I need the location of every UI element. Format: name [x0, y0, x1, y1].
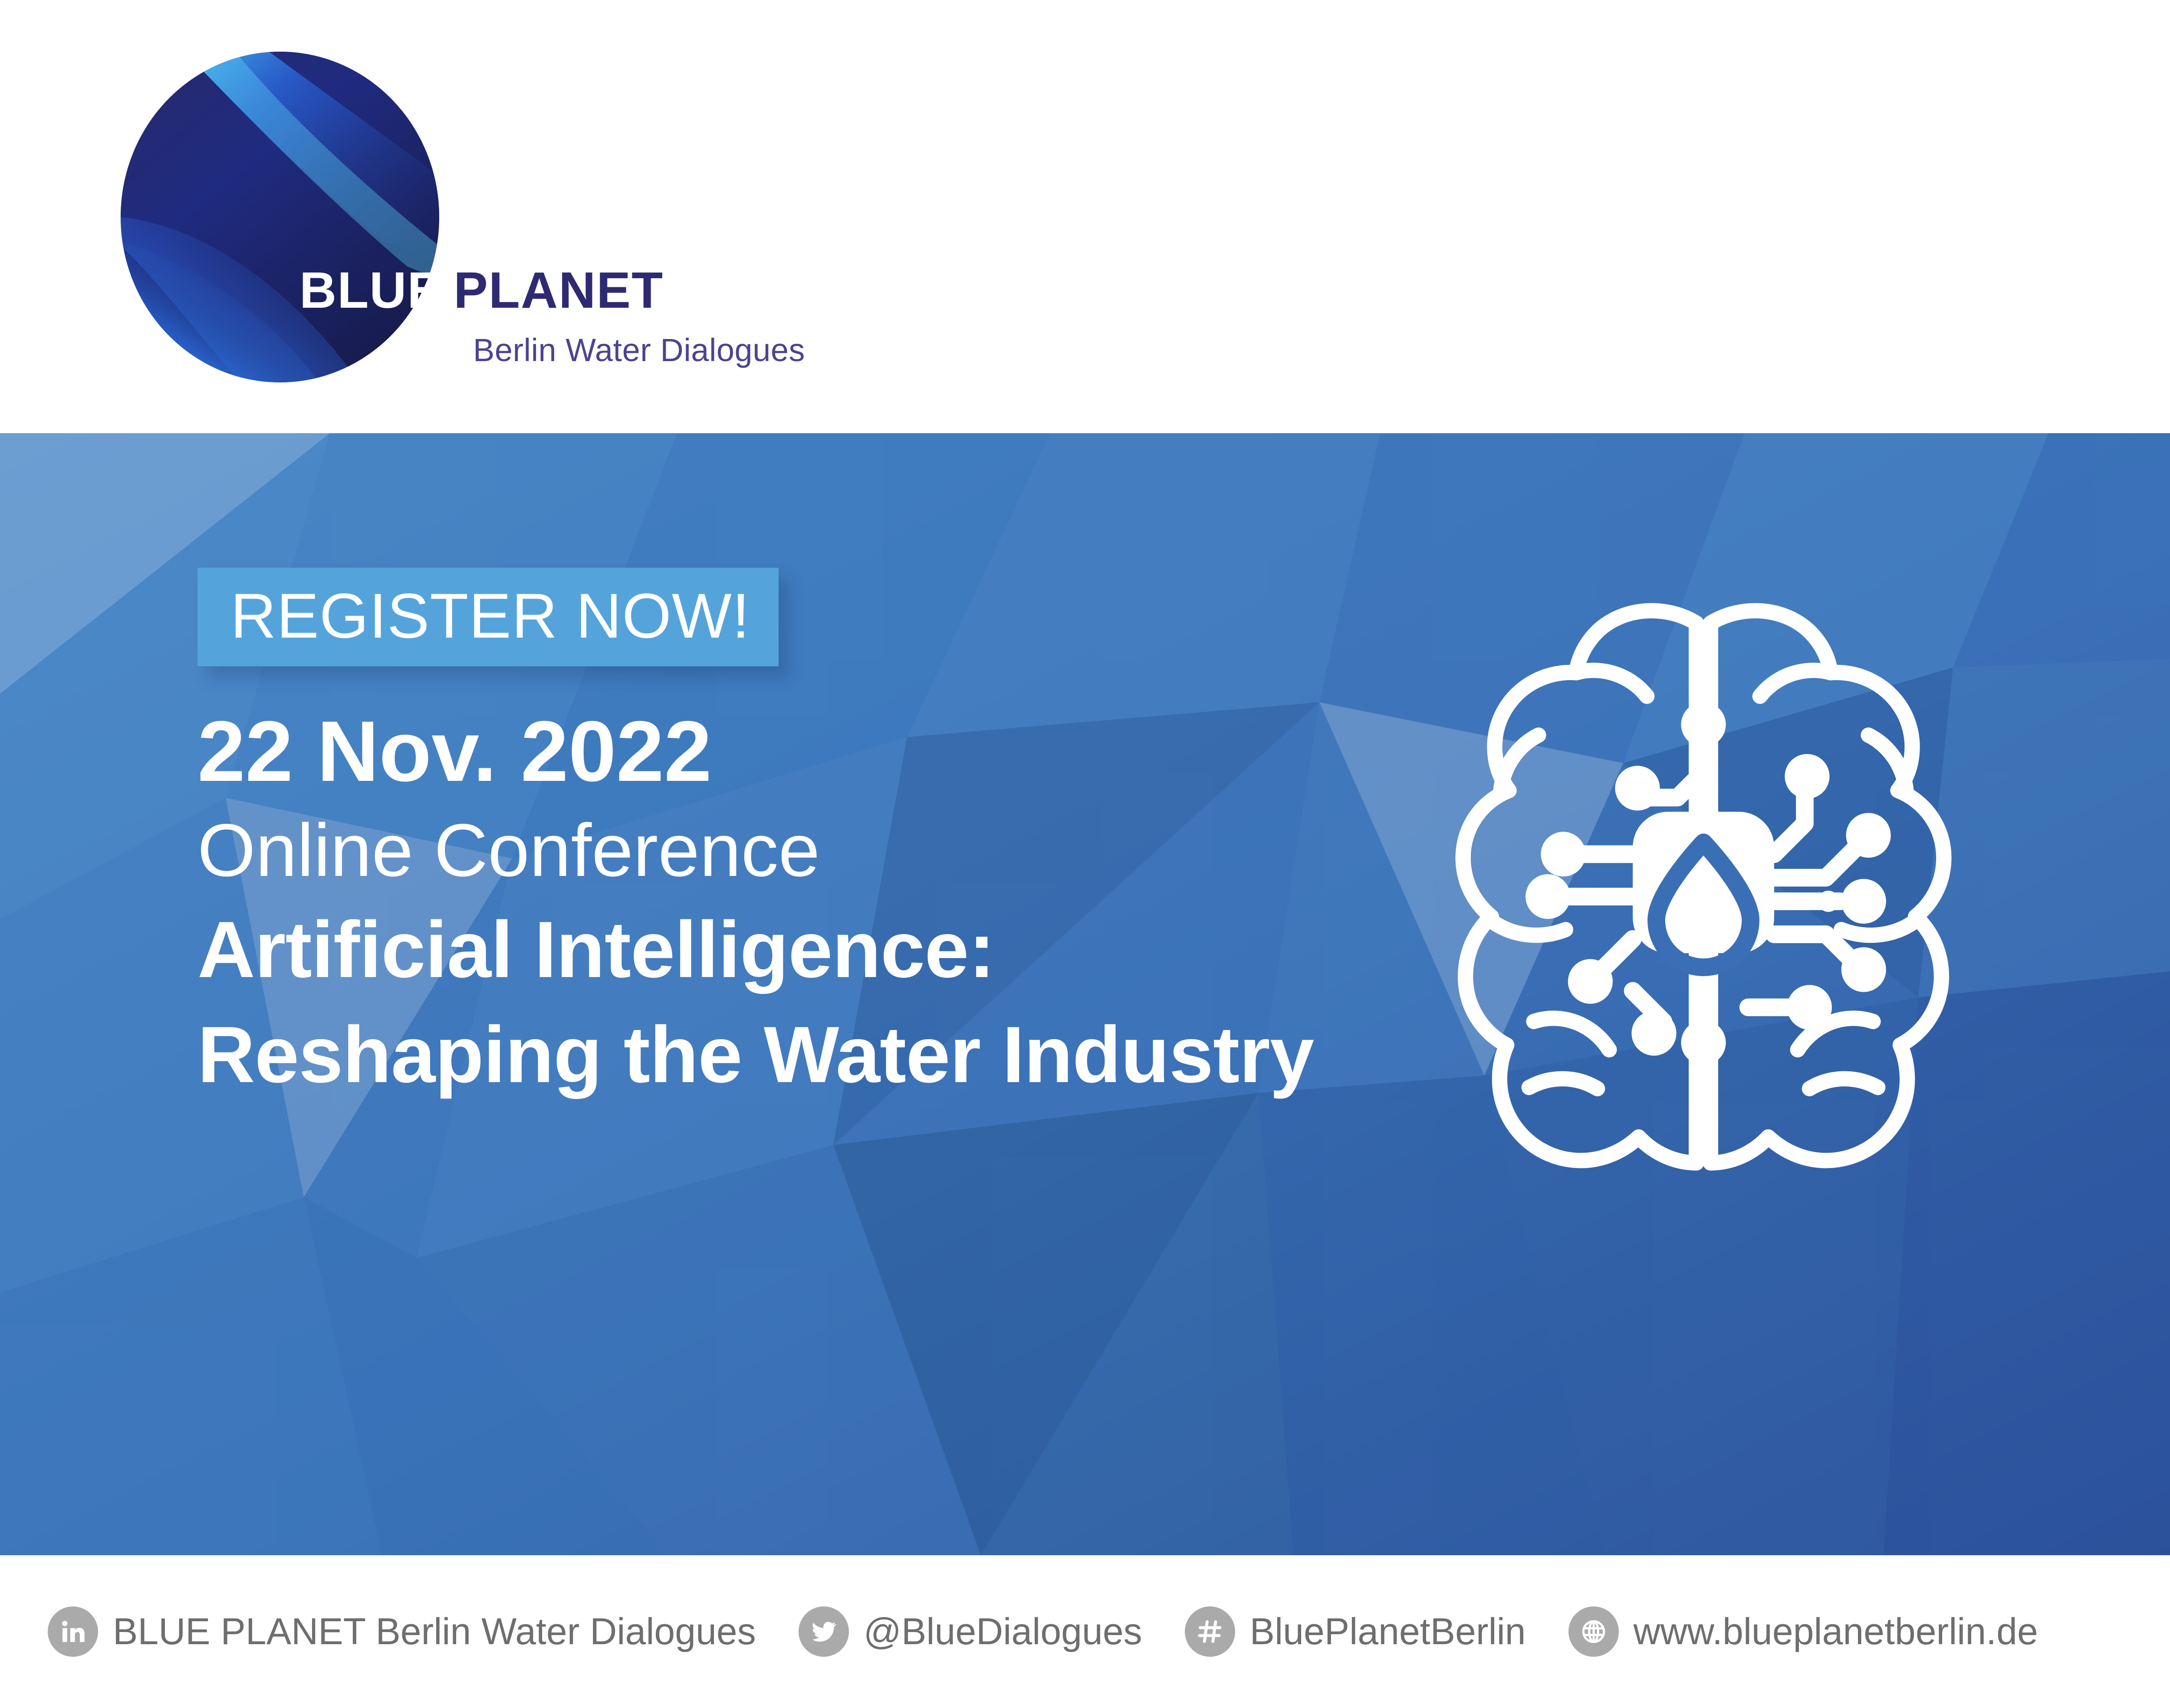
- register-now-badge[interactable]: REGISTER NOW!: [197, 568, 779, 666]
- globe-icon: [1568, 1606, 1619, 1657]
- register-now-label: REGISTER NOW!: [230, 582, 750, 649]
- event-title-line-1: Artificial Intelligence:: [197, 903, 1314, 996]
- twitter-icon: [799, 1606, 849, 1657]
- footer-item-linkedin[interactable]: BLUE PLANET Berlin Water Dialogues: [48, 1606, 756, 1657]
- event-title-line-2: Reshaping the Water Industry: [197, 1008, 1314, 1101]
- ai-brain-water-droplet-icon: [1402, 557, 2005, 1208]
- event-format: Online Conference: [197, 810, 1314, 892]
- poster-canvas: REGISTER NOW! 22 Nov. 2022 Online Confer…: [0, 0, 2170, 1708]
- footer-item-twitter[interactable]: @BlueDialogues: [799, 1606, 1142, 1657]
- footer-label-linkedin: BLUE PLANET Berlin Water Dialogues: [113, 1610, 756, 1653]
- footer-label-hashtag: BluePlanetBerlin: [1250, 1610, 1526, 1653]
- footer-item-hashtag[interactable]: BluePlanetBerlin: [1185, 1606, 1526, 1657]
- footer-social-bar: BLUE PLANET Berlin Water Dialogues @Blue…: [0, 1555, 2170, 1708]
- logo-word-planet: PLANET: [442, 262, 664, 319]
- hashtag-icon: [1185, 1606, 1235, 1657]
- footer-label-website: www.blueplanetberlin.de: [1634, 1610, 2038, 1653]
- hero-content: REGISTER NOW! 22 Nov. 2022 Online Confer…: [197, 568, 1314, 1101]
- logo-word-blue: BLUE: [299, 262, 442, 319]
- logo-wordmark-line: BLUEPLANET: [299, 265, 805, 316]
- footer-label-twitter: @BlueDialogues: [864, 1610, 1142, 1653]
- event-date: 22 Nov. 2022: [197, 706, 1314, 796]
- logo-tagline: Berlin Water Dialogues: [299, 332, 805, 369]
- hero-panel: REGISTER NOW! 22 Nov. 2022 Online Confer…: [0, 433, 2170, 1555]
- footer-item-website[interactable]: www.blueplanetberlin.de: [1568, 1606, 2038, 1657]
- logo-wordmark: BLUEPLANET Berlin Water Dialogues: [299, 265, 805, 369]
- linkedin-icon: [48, 1606, 98, 1657]
